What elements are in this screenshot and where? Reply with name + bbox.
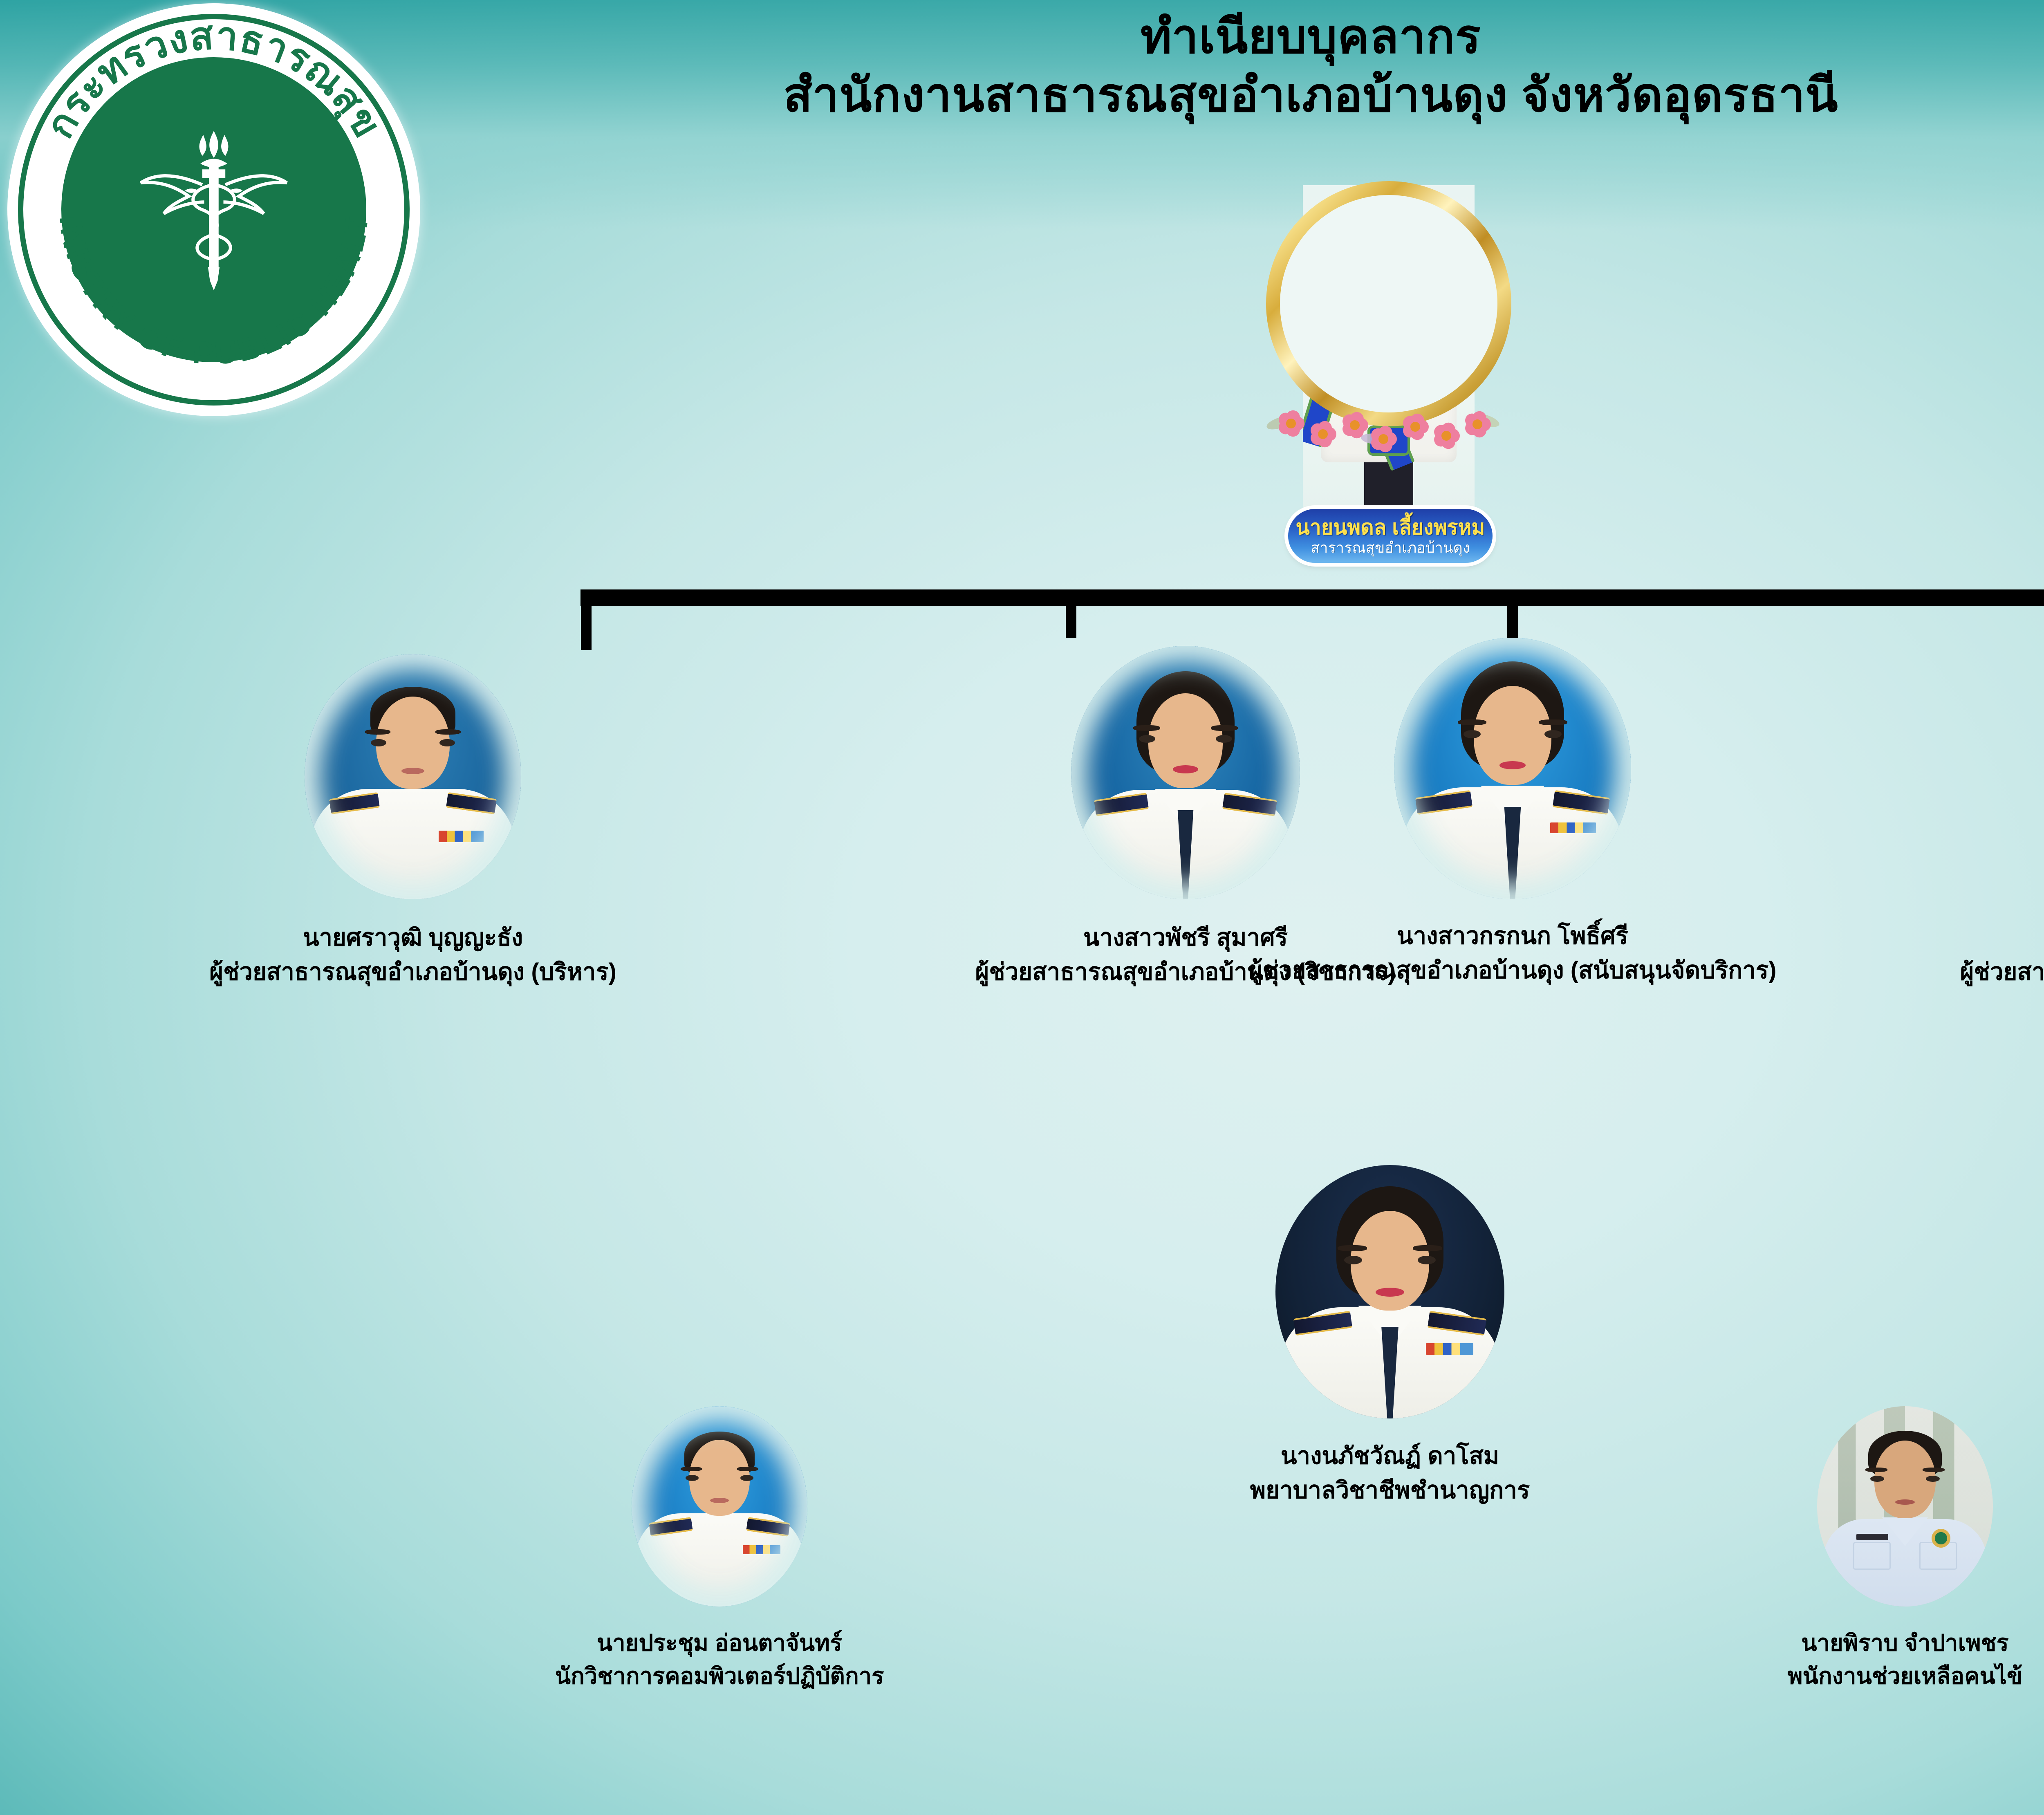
person-photo-6 <box>632 1406 807 1607</box>
person-card-7[interactable]: นายพิราบ จำปาเพชร พนักงานช่วยเหลือคนไข้ <box>1586 1406 2044 1690</box>
director-name-banner: นายนพดล เลี้ยงพรหม สารารณสุขอำเภอบ้านดุง <box>1288 509 1493 563</box>
person-photo-1 <box>305 654 521 899</box>
person-card-1[interactable]: นายศราวุฒิ บุญญะธัง ผู้ช่วยสาธารณสุขอำเภ… <box>25 654 801 987</box>
director-card[interactable]: นายนพดล เลี้ยงพรหม สารารณสุขอำเภอบ้านดุง <box>1249 178 1531 589</box>
person-name-3: นางสาวกรกนก โพธิ์ศรี <box>1202 921 1823 951</box>
person-name-6: นายประชุม อ่อนตาจันทร์ <box>417 1629 1022 1657</box>
person-role-3: ผู้ช่วยสาธารณสุขอำเภอบ้านดุง (สนับสนุนจั… <box>1202 956 1823 985</box>
person-role-7: พนักงานช่วยเหลือคนไข้ <box>1586 1662 2044 1690</box>
person-role-6: นักวิชาการคอมพิวเตอร์ปฏิบัติการ <box>417 1662 1022 1690</box>
director-name: นายนพดล เลี้ยงพรหม <box>1296 516 1485 538</box>
person-photo-7 <box>1817 1406 1993 1607</box>
title-line-2: สำนักงานสาธารณสุขอำเภอบ้านดุง จังหวัดอุด… <box>0 67 2044 123</box>
director-role: สารารณสุขอำเภอบ้านดุง <box>1311 540 1470 556</box>
person-name-4: นางสาวธันยา พันธะชัย <box>1831 923 2044 952</box>
person-card-3[interactable]: นางสาวกรกนก โพธิ์ศรี ผู้ช่วยสาธารณสุขอำเ… <box>1202 638 1823 985</box>
title-line-1: ทำเนียบบุคลากร <box>0 9 2044 64</box>
person-photo-5 <box>1275 1165 1504 1418</box>
person-photo-3 <box>1394 638 1631 899</box>
person-role-4: ผู้ช่วยสาธารณสุขอำเภอบ้านดุง (สนับสนุนจั… <box>1831 957 2044 987</box>
person-name-7: นายพิราบ จำปาเพชร <box>1586 1629 2044 1657</box>
person-card-6[interactable]: นายประชุม อ่อนตาจันทร์ นักวิชาการคอมพิวเ… <box>417 1406 1022 1690</box>
person-card-4[interactable]: นางสาวธันยา พันธะชัย ผู้ช่วยสาธารณสุขอำเ… <box>1831 646 2044 987</box>
person-role-1: ผู้ช่วยสาธารณสุขอำเภอบ้านดุง (บริหาร) <box>25 957 801 987</box>
page-title: ทำเนียบบุคลากร สำนักงานสาธารณสุขอำเภอบ้า… <box>0 0 2044 122</box>
caduceus-icon <box>118 114 310 306</box>
flower-decoration <box>1259 382 1520 456</box>
person-name-1: นายศราวุฒิ บุญญะธัง <box>25 923 801 952</box>
